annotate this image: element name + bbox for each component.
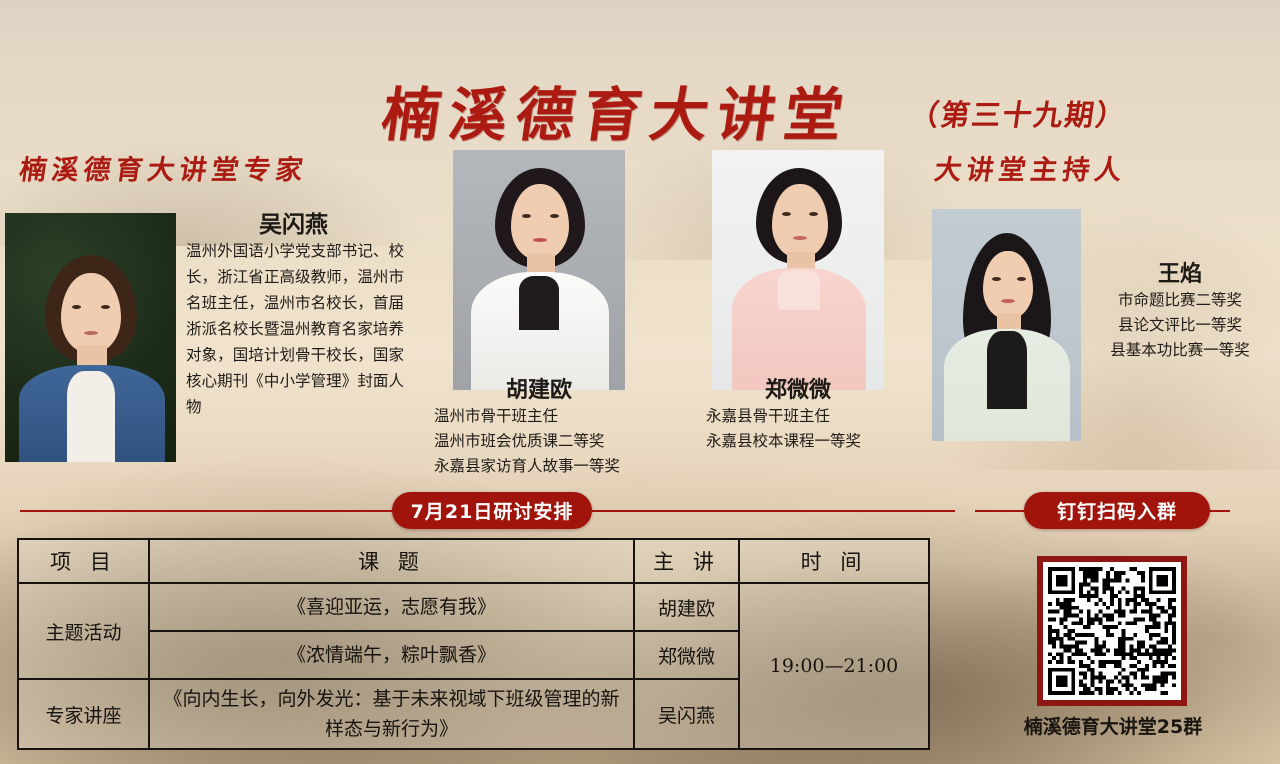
table-header-topic: 课 题 bbox=[149, 539, 634, 583]
shirt-shape bbox=[67, 371, 115, 462]
cell-speaker-2: 郑微微 bbox=[634, 631, 739, 679]
cell-item-activity: 主题活动 bbox=[18, 583, 149, 679]
table-row: 主题活动 《喜迎亚运，志愿有我》 胡建欧 19:00—21:00 bbox=[18, 583, 929, 631]
speaker-2-name: 郑微微 bbox=[712, 372, 884, 404]
cell-topic-1: 《喜迎亚运，志愿有我》 bbox=[149, 583, 634, 631]
mouth-shape bbox=[793, 236, 807, 240]
cell-topic-2: 《浓情端午，粽叶飘香》 bbox=[149, 631, 634, 679]
cell-speaker-1: 胡建欧 bbox=[634, 583, 739, 631]
host-description: 市命题比赛二等奖 县论文评比一等奖 县基本功比赛一等奖 bbox=[1090, 288, 1270, 363]
poster-root: 楠溪德育大讲堂 （第三十九期） 楠溪德育大讲堂专家 大讲堂主持人 bbox=[0, 0, 1280, 764]
face-shape bbox=[772, 184, 828, 258]
expert-description: 温州外国语小学党支部书记、校长，浙江省正高级教师，温州市名班主任，温州市名校长，… bbox=[186, 238, 404, 420]
mouth-shape bbox=[533, 238, 547, 242]
face-shape bbox=[61, 273, 121, 353]
speaker-2-description: 永嘉县骨干班主任 永嘉县校本课程一等奖 bbox=[706, 404, 946, 454]
speaker-1-description: 温州市骨干班主任 温州市班会优质课二等奖 永嘉县家访育人故事一等奖 bbox=[434, 404, 684, 479]
eye-left bbox=[72, 305, 81, 309]
qr-banner: 钉钉扫码入群 bbox=[1024, 492, 1210, 529]
mouth-shape bbox=[1001, 299, 1015, 303]
table-header-item: 项 目 bbox=[18, 539, 149, 583]
qr-code-image bbox=[1048, 567, 1176, 695]
section-label-expert: 楠溪德育大讲堂专家 bbox=[17, 148, 310, 187]
speaker-1-name: 胡建欧 bbox=[453, 372, 625, 404]
expert-name: 吴闪燕 bbox=[186, 205, 401, 239]
cell-topic-3: 《向内生长，向外发光：基于未来视域下班级管理的新样态与新行为》 bbox=[149, 679, 634, 749]
speaker-photo-1 bbox=[453, 150, 625, 390]
expert-photo bbox=[5, 213, 176, 462]
speaker-photo-2 bbox=[712, 150, 884, 390]
host-photo bbox=[932, 209, 1081, 441]
eye-right bbox=[809, 212, 818, 216]
eye-left bbox=[782, 212, 791, 216]
collar-shape bbox=[778, 270, 820, 310]
table-header-time: 时 间 bbox=[739, 539, 929, 583]
inner-top-shape bbox=[519, 276, 559, 330]
section-label-host: 大讲堂主持人 bbox=[932, 148, 1129, 187]
eye-right bbox=[1017, 277, 1026, 281]
qr-caption: 楠溪德育大讲堂25群 bbox=[985, 712, 1241, 739]
cell-item-lecture: 专家讲座 bbox=[18, 679, 149, 749]
eye-right bbox=[550, 214, 559, 218]
schedule-banner: 7月21日研讨安排 bbox=[392, 492, 592, 529]
cell-time: 19:00—21:00 bbox=[739, 583, 929, 749]
face-shape bbox=[511, 184, 569, 260]
page-title: 楠溪德育大讲堂 bbox=[377, 68, 858, 152]
eye-left bbox=[522, 214, 531, 218]
eye-left bbox=[992, 277, 1001, 281]
host-name: 王焰 bbox=[1100, 256, 1260, 288]
table-header-row: 项 目 课 题 主 讲 时 间 bbox=[18, 539, 929, 583]
cell-speaker-3: 吴闪燕 bbox=[634, 679, 739, 749]
page-title-edition: （第三十九期） bbox=[907, 92, 1130, 134]
inner-top-shape bbox=[987, 331, 1027, 409]
eye-right bbox=[101, 305, 110, 309]
qr-code[interactable] bbox=[1037, 556, 1187, 706]
mouth-shape bbox=[84, 331, 98, 335]
schedule-table: 项 目 课 题 主 讲 时 间 主题活动 《喜迎亚运，志愿有我》 胡建欧 19:… bbox=[17, 538, 930, 750]
table-header-speaker: 主 讲 bbox=[634, 539, 739, 583]
face-shape bbox=[983, 251, 1033, 319]
